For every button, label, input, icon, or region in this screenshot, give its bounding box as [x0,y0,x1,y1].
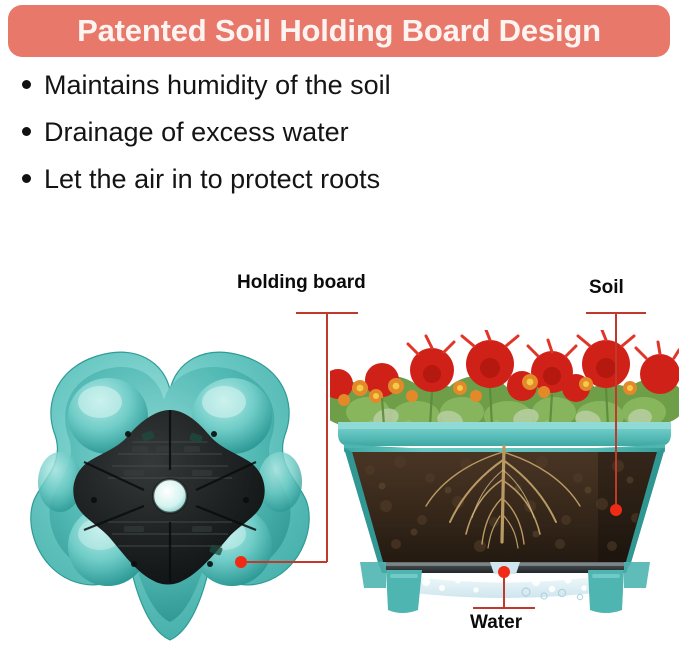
lobe-highlight [202,386,246,418]
lobe-highlight [78,386,122,418]
plant-foliage [330,330,679,432]
bullet-dot-icon [22,127,31,136]
list-item: Drainage of excess water [22,119,622,166]
annotation-dot-water [498,566,510,578]
list-item: Let the air in to protect roots [22,166,622,213]
annotation-dot-soil [610,504,622,516]
leader-line-holding-board-bottom [241,561,327,563]
list-item: Maintains humidity of the soil [22,72,622,119]
top-view-clover-pot-image [24,350,316,646]
feature-text: Maintains humidity of the soil [44,72,391,99]
annotation-label-holding-board: Holding board [237,272,366,294]
bullet-dot-icon [22,80,31,89]
leader-line-water-bottom [473,607,535,609]
leader-line-holding-board-vertical [326,312,328,562]
bullet-dot-icon [22,174,31,183]
feature-text: Drainage of excess water [44,119,349,146]
annotation-dot-holding-board [235,556,247,568]
leader-line-soil-vertical [615,312,617,510]
page-title: Patented Soil Holding Board Design [77,13,601,49]
feature-list: Maintains humidity of the soil Drainage … [22,72,622,213]
header-banner: Patented Soil Holding Board Design [8,5,670,57]
pot-lobe-right [258,452,302,512]
annotation-label-water: Water [470,612,522,634]
feature-text: Let the air in to protect roots [44,166,380,193]
annotation-label-soil: Soil [589,277,624,299]
